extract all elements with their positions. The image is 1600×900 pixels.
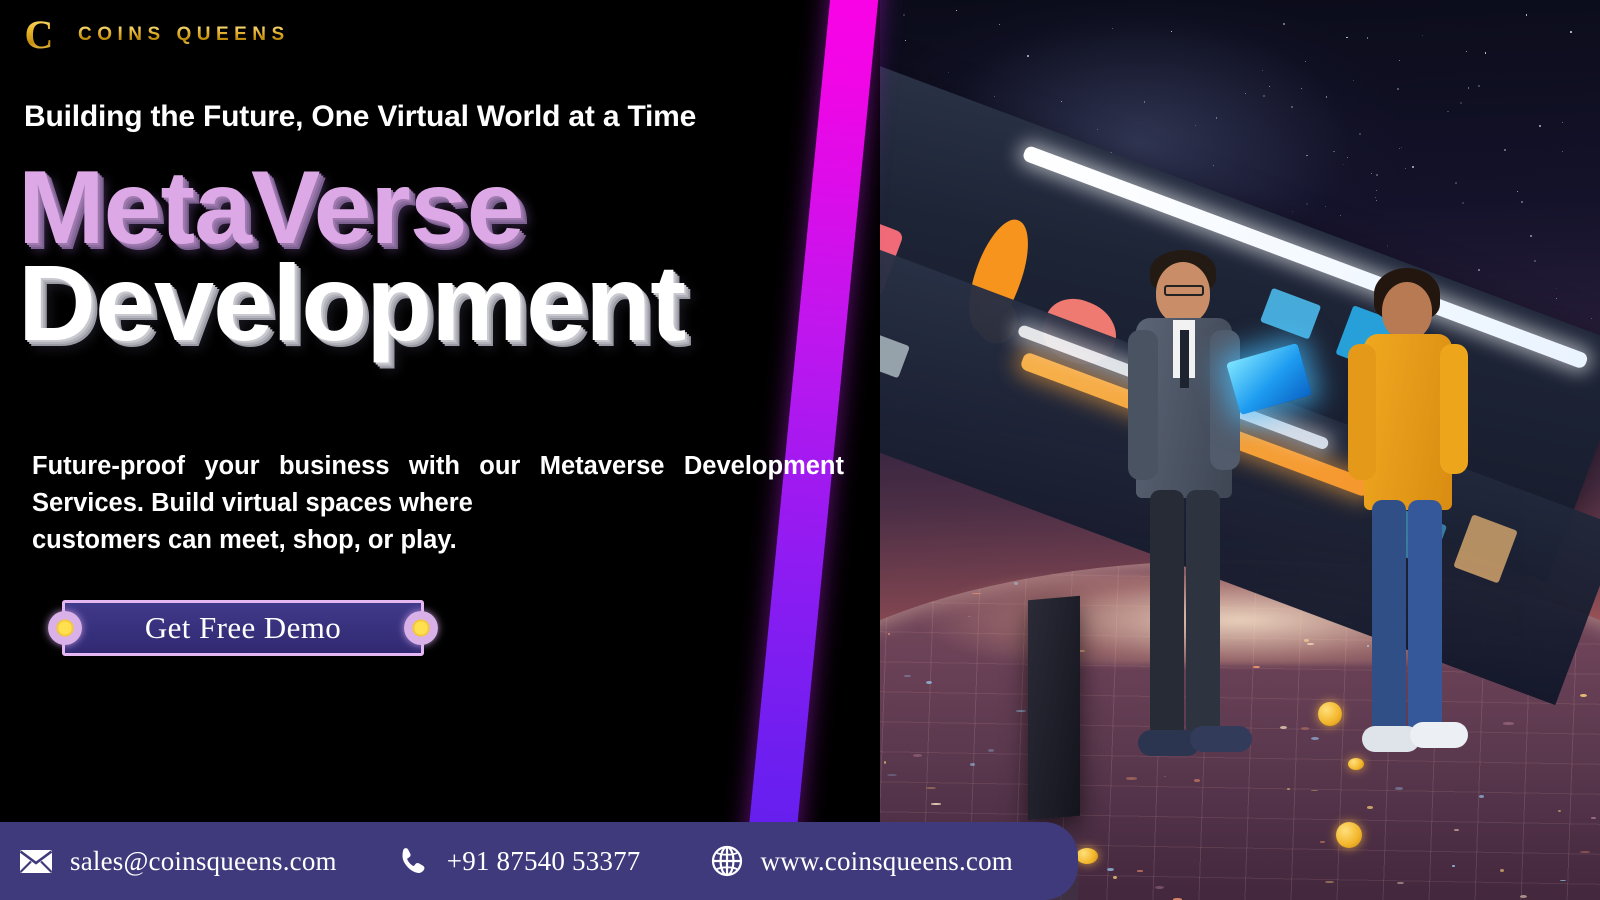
cta-wrapper: Get Free Demo xyxy=(62,600,424,656)
footer-website[interactable]: www.coinsqueens.com xyxy=(709,845,1014,877)
footer-email[interactable]: sales@coinsqueens.com xyxy=(18,845,337,877)
brand-name: COINS QUEENS xyxy=(78,24,290,46)
brand-logo[interactable]: C COINS QUEENS xyxy=(22,16,290,54)
woman-shoe-right xyxy=(1410,722,1468,748)
decor-chip-cyan xyxy=(1260,288,1321,340)
contact-footer-bar: sales@coinsqueens.com +91 87540 53377 xyxy=(0,822,1078,900)
man-glasses-icon xyxy=(1164,285,1204,296)
coin-c-logo-icon: C xyxy=(22,16,56,54)
woman-jacket xyxy=(1364,334,1452,510)
floating-coin-4 xyxy=(1076,848,1098,864)
left-content-panel: C COINS QUEENS Building the Future, One … xyxy=(0,0,900,900)
page-title: MetaVerse Development xyxy=(18,160,898,353)
woman-leg-right xyxy=(1408,500,1442,736)
cta-dot-left-icon xyxy=(48,611,82,645)
cta-dot-right-icon xyxy=(404,611,438,645)
body-copy-last-line: customers can meet, shop, or play. xyxy=(32,522,844,559)
footer-website-text: www.coinsqueens.com xyxy=(761,846,1014,877)
footer-phone-text: +91 87540 53377 xyxy=(447,846,641,877)
envelope-icon xyxy=(18,845,54,877)
floating-coin-2 xyxy=(1336,822,1362,848)
man-tie xyxy=(1180,330,1189,388)
hero-artwork xyxy=(880,0,1600,900)
globe-icon xyxy=(709,845,745,877)
man-arm-left xyxy=(1128,330,1158,480)
headline-line-2: Development xyxy=(18,253,898,353)
woman-leg-left xyxy=(1372,500,1406,736)
man-leg-right xyxy=(1186,490,1220,738)
man-leg-left xyxy=(1150,490,1184,738)
footer-phone[interactable]: +91 87540 53377 xyxy=(395,845,641,877)
woman-head xyxy=(1382,282,1432,340)
decor-chip-tan xyxy=(1453,514,1518,583)
woman-arm-right xyxy=(1440,344,1468,474)
monolith-tower xyxy=(1028,596,1080,821)
cta-label: Get Free Demo xyxy=(145,610,341,646)
body-copy-main: Future-proof your business with our Meta… xyxy=(32,452,844,517)
man-shoe-right xyxy=(1190,726,1252,752)
man-arm-right xyxy=(1210,330,1240,470)
floating-coin-1 xyxy=(1318,702,1342,726)
banner-canvas: C COINS QUEENS Building the Future, One … xyxy=(0,0,1600,900)
body-copy: Future-proof your business with our Meta… xyxy=(32,448,844,559)
footer-email-text: sales@coinsqueens.com xyxy=(70,846,337,877)
phone-icon xyxy=(395,845,431,877)
kicker-tagline: Building the Future, One Virtual World a… xyxy=(24,100,844,134)
woman-arm-left xyxy=(1348,344,1376,480)
floating-coin-3 xyxy=(1348,758,1364,770)
get-free-demo-button[interactable]: Get Free Demo xyxy=(62,600,424,656)
